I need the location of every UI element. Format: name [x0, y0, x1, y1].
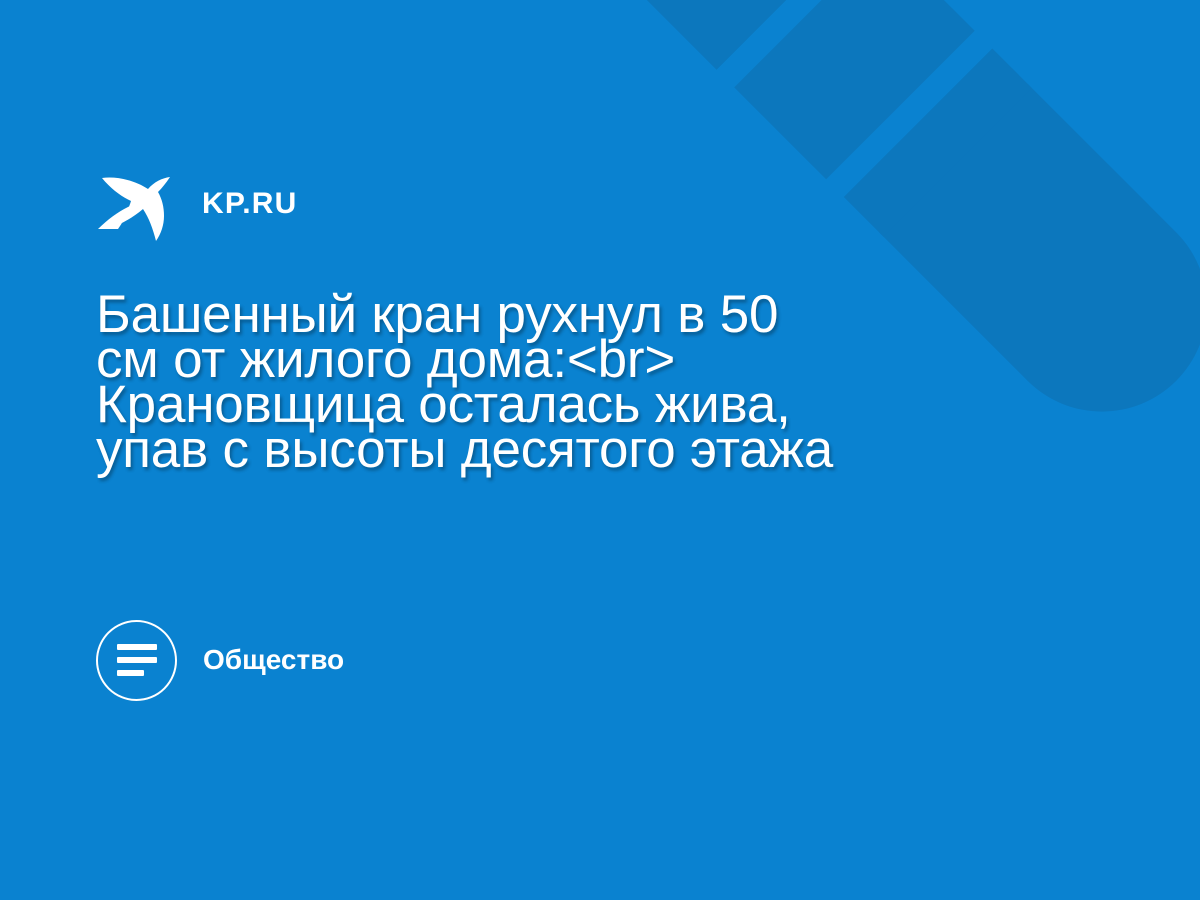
hamburger-menu-icon	[96, 620, 177, 701]
rubric-badge[interactable]: Общество	[96, 619, 344, 701]
share-card: KP.RU Башенный кран рухнул в 50 см от жи…	[0, 0, 1200, 900]
brand-name: KP.RU	[202, 189, 297, 219]
page-title: Башенный кран рухнул в 50 см от жилого д…	[96, 292, 836, 472]
brand-logo[interactable]: KP.RU	[96, 168, 297, 240]
swallow-bird-icon	[96, 167, 178, 241]
rubric-label: Общество	[203, 646, 344, 674]
content-column: KP.RU Башенный кран рухнул в 50 см от жи…	[96, 0, 856, 900]
